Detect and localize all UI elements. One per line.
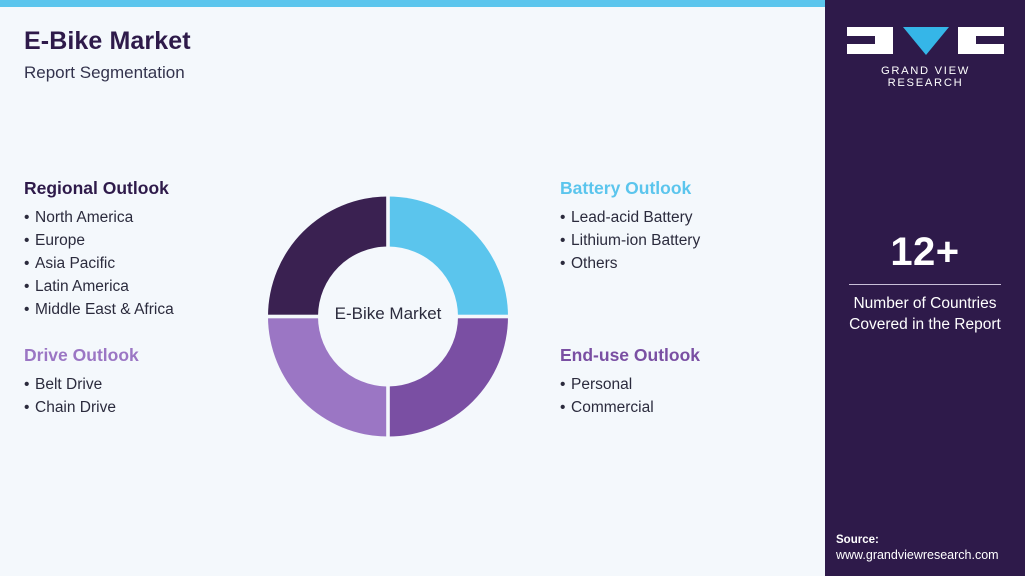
donut-center-label: E-Bike Market: [248, 304, 528, 324]
list-item: Lead-acid Battery: [560, 207, 700, 230]
title-block: E-Bike Market Report Segmentation: [24, 27, 191, 83]
donut-chart: E-Bike Market: [248, 171, 528, 462]
section-enduse-outlook: End-use Outlook Personal Commercial: [560, 345, 700, 420]
section-regional-outlook: Regional Outlook North America Europe As…: [24, 178, 174, 322]
logo-triangle-icon: [903, 27, 949, 55]
list-item: Personal: [560, 374, 700, 397]
section-list-enduse: Personal Commercial: [560, 374, 700, 420]
section-list-drive: Belt Drive Chain Drive: [24, 374, 139, 420]
logo-left-bracket-icon: [847, 27, 893, 54]
source-url[interactable]: www.grandviewresearch.com: [836, 548, 1017, 562]
section-title-drive: Drive Outlook: [24, 345, 139, 366]
list-item: Latin America: [24, 276, 174, 299]
logo-marks: [847, 27, 1004, 57]
section-list-regional: North America Europe Asia Pacific Latin …: [24, 207, 174, 322]
list-item: Europe: [24, 230, 174, 253]
sidebar-panel: GRAND VIEW RESEARCH 12+ Number of Countr…: [825, 0, 1025, 576]
report-segmentation-infographic: E-Bike Market Report Segmentation: [0, 0, 1025, 576]
content-panel: E-Bike Market Report Segmentation: [0, 7, 825, 576]
section-drive-outlook: Drive Outlook Belt Drive Chain Drive: [24, 345, 139, 420]
stat-caption-line1: Number of Countries: [825, 293, 1025, 314]
page-subtitle: Report Segmentation: [24, 63, 191, 83]
list-item: Lithium-ion Battery: [560, 230, 700, 253]
list-item: Others: [560, 253, 700, 276]
source-label: Source:: [836, 534, 1017, 546]
list-item: North America: [24, 207, 174, 230]
list-item: Commercial: [560, 397, 700, 420]
top-accent-bar: [0, 0, 825, 7]
section-title-regional: Regional Outlook: [24, 178, 174, 199]
stat-block: 12+ Number of Countries Covered in the R…: [825, 230, 1025, 335]
stat-caption-line2: Covered in the Report: [825, 314, 1025, 335]
stat-divider: [849, 284, 1001, 285]
list-item: Asia Pacific: [24, 253, 174, 276]
logo-right-bracket-icon: [958, 27, 1004, 54]
brand-name: GRAND VIEW RESEARCH: [847, 65, 1004, 89]
source-block: Source: www.grandviewresearch.com: [825, 534, 1025, 562]
stat-number: 12+: [825, 230, 1025, 275]
brand-logo: GRAND VIEW RESEARCH: [847, 27, 1004, 89]
page-title: E-Bike Market: [24, 27, 191, 56]
section-battery-outlook: Battery Outlook Lead-acid Battery Lithiu…: [560, 178, 700, 276]
list-item: Middle East & Africa: [24, 299, 174, 322]
section-title-enduse: End-use Outlook: [560, 345, 700, 366]
list-item: Belt Drive: [24, 374, 139, 397]
list-item: Chain Drive: [24, 397, 139, 420]
section-list-battery: Lead-acid Battery Lithium-ion Battery Ot…: [560, 207, 700, 276]
section-title-battery: Battery Outlook: [560, 178, 700, 199]
